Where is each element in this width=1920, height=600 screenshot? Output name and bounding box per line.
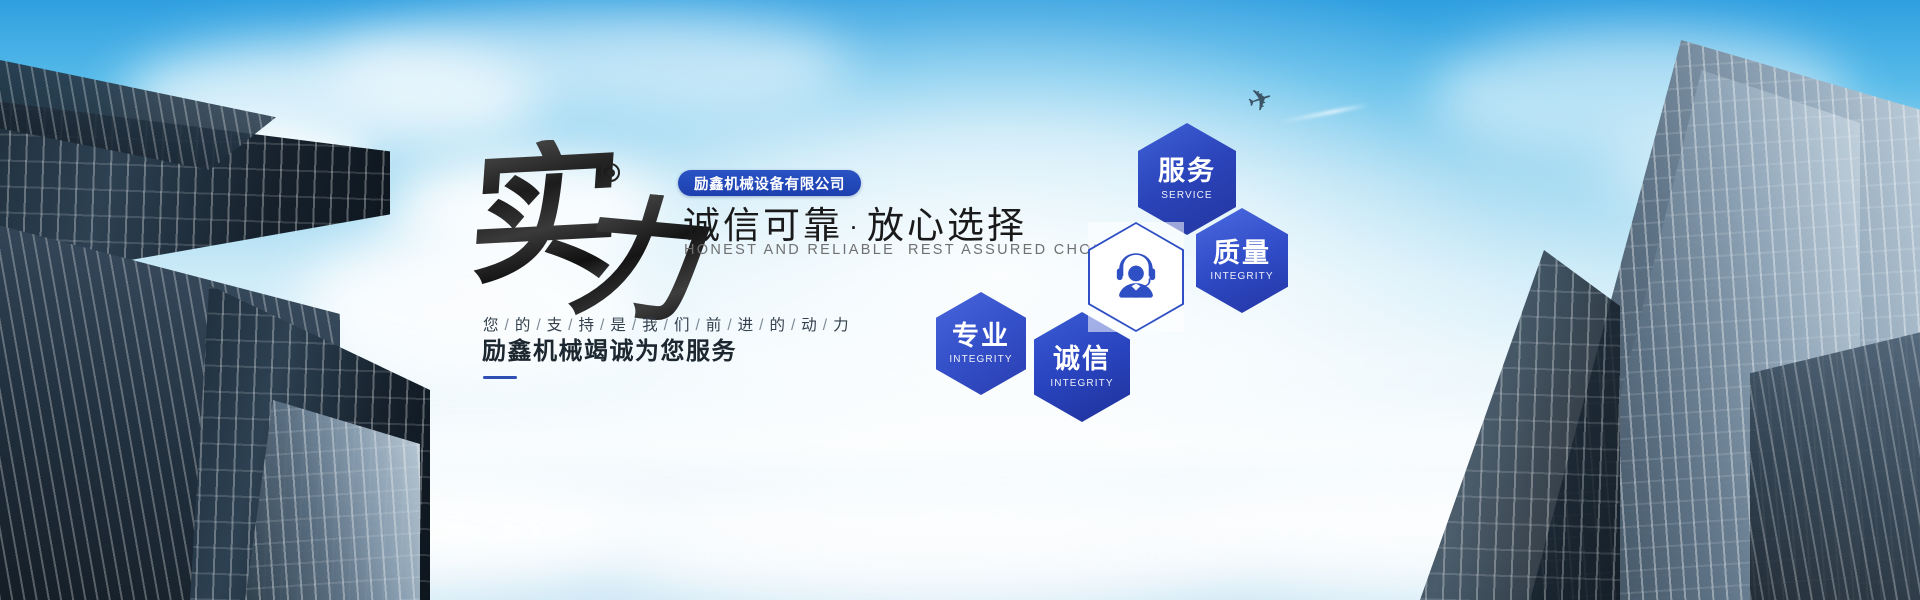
support-separator: /: [759, 317, 764, 334]
circle-dot-icon: [601, 163, 620, 182]
support-char: 持: [578, 317, 595, 334]
support-char: 我: [642, 317, 659, 334]
support-separator: /: [568, 317, 573, 334]
slogan-en-left: HONEST AND RELIABLE: [684, 242, 895, 258]
skyscraper-right: [1360, 0, 1920, 600]
slogan-zh-left: 诚信可靠: [683, 205, 843, 246]
service-line: 励鑫机械竭诚为您服务: [482, 340, 737, 364]
support-separator: /: [823, 317, 828, 334]
accent-rule: [483, 376, 517, 379]
support-separator: /: [695, 317, 700, 334]
slogan-divider: ·: [849, 211, 861, 241]
support-spaced-line: 您/的/支/持/是/我/们/前/进/的/动/力: [483, 318, 850, 334]
hero-banner: ✈ 实 力 励鑫机械设备有限公司 诚信可靠·放心选择 HONEST AND RE…: [0, 0, 1920, 600]
hex-quality-zh: 质量: [1213, 239, 1271, 267]
support-char: 前: [706, 317, 723, 334]
skyscraper-left: [0, 0, 420, 600]
support-char: 是: [610, 317, 627, 334]
support-char: 的: [769, 317, 786, 334]
slogan-zh-right: 放心选择: [867, 205, 1027, 246]
hex-service-zh: 服务: [1158, 157, 1216, 185]
company-name-badge: 励鑫机械设备有限公司: [678, 170, 861, 196]
support-char: 支: [547, 317, 564, 334]
support-separator: /: [664, 317, 669, 334]
support-separator: /: [536, 317, 541, 334]
hex-integrity-en: INTEGRITY: [1050, 379, 1113, 389]
support-char: 们: [674, 317, 691, 334]
hex-professional-en: INTEGRITY: [949, 355, 1012, 365]
headset-operator-icon: [1103, 244, 1169, 310]
support-char: 的: [515, 317, 532, 334]
support-char: 进: [738, 317, 755, 334]
support-separator: /: [791, 317, 796, 334]
support-separator: /: [632, 317, 637, 334]
hex-quality-en: INTEGRITY: [1210, 272, 1273, 282]
slogan-zh: 诚信可靠·放心选择: [683, 207, 1027, 244]
support-char: 力: [833, 317, 850, 334]
support-char: 动: [801, 317, 818, 334]
operator-hexagon: [1088, 222, 1184, 332]
support-separator: /: [600, 317, 605, 334]
support-separator: /: [505, 317, 510, 334]
hex-service-en: SERVICE: [1161, 191, 1212, 201]
support-separator: /: [727, 317, 732, 334]
hex-professional-zh: 专业: [952, 322, 1010, 350]
airplane-icon: ✈: [1248, 86, 1318, 132]
slogan-en: HONEST AND RELIABLEREST ASSURED CHOICE: [684, 243, 1124, 258]
hex-integrity-zh: 诚信: [1053, 345, 1111, 373]
support-char: 您: [483, 317, 500, 334]
